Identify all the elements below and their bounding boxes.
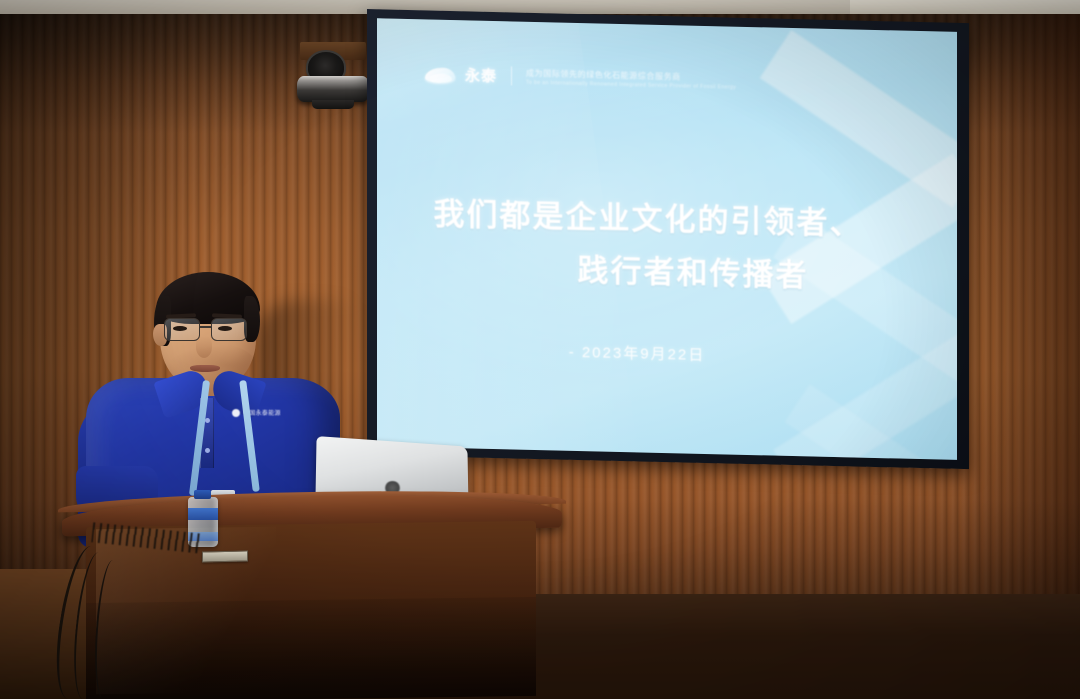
photograph-scene: 永泰 成为国际领先的绿色化石能源综合服务商 To be an Internati…: [0, 0, 1080, 699]
speaker-nose: [196, 336, 212, 358]
speaker-shirt-button: [205, 418, 210, 423]
shirt-company-logo: 中国永泰能源: [232, 408, 281, 417]
cloud-leaf-logo-icon: [425, 64, 455, 85]
brand-tagline: 成为国际领先的绿色化石能源综合服务商 To be an Internationa…: [526, 67, 736, 90]
podium-shadow: [86, 597, 536, 699]
display-screen-bezel: 永泰 成为国际领先的绿色化石能源综合服务商 To be an Internati…: [367, 9, 969, 469]
camera-body: [297, 76, 369, 102]
bottle-cap: [194, 490, 211, 499]
bottle-label: [188, 508, 218, 520]
speaker-shirt-button: [205, 448, 210, 453]
slide-title: 我们都是企业文化的引领者、 践行者和传播者: [377, 186, 957, 306]
brand-divider: [511, 66, 512, 85]
speaker-eye: [173, 326, 187, 331]
podium-name-plate: [202, 551, 248, 563]
slide-brand-header: 永泰 成为国际领先的绿色化石能源综合服务商 To be an Internati…: [425, 63, 736, 91]
shirt-logo-mark-icon: [232, 409, 240, 417]
speaker-eye: [218, 326, 232, 331]
brand-name: 永泰: [465, 64, 497, 86]
presentation-slide: 永泰 成为国际领先的绿色化石能源综合服务商 To be an Internati…: [377, 18, 957, 460]
slide-date: - 2023年9月22日: [377, 336, 957, 371]
slide-title-line-2: 践行者和传播者: [377, 240, 919, 306]
camera-base: [312, 100, 354, 109]
